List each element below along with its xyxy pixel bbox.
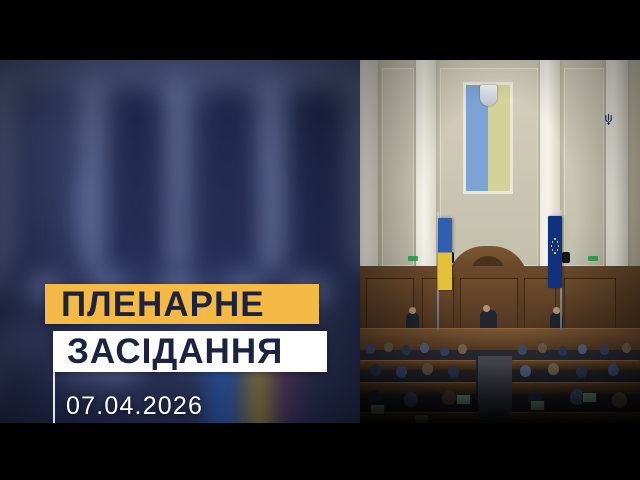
wall-panel — [382, 68, 414, 266]
hall-archway — [198, 90, 254, 265]
hall-column — [260, 78, 286, 268]
deputy-head — [622, 343, 631, 353]
loudspeaker-icon — [562, 252, 570, 263]
wall-panel — [564, 68, 604, 266]
ukraine-coat-of-arms-shield — [480, 85, 497, 106]
deputy-head — [558, 346, 567, 356]
title-band-primary: ПЛЕНАРНЕ — [45, 284, 319, 324]
chairperson — [480, 310, 497, 330]
deputy-head — [600, 345, 609, 355]
hall-archway — [110, 90, 162, 265]
broadcast-frame: ПЛЕНАРНЕ ЗАСІДАННЯ 07.04.2026 — [0, 0, 640, 480]
letterbox-bar-top — [0, 0, 640, 60]
exit-sign-icon — [588, 256, 598, 261]
right-chamber-image — [360, 60, 640, 423]
hall-column — [0, 78, 14, 268]
bottom-falloff — [360, 363, 640, 423]
european-union-flag — [548, 216, 562, 288]
title-line-1: ПЛЕНАРНЕ — [45, 287, 265, 322]
deputy-head — [578, 344, 587, 354]
hall-column — [166, 78, 190, 268]
deputy-head — [458, 344, 467, 354]
deputy-head — [384, 342, 393, 352]
hall-column — [352, 78, 360, 268]
presidium-panel — [564, 278, 616, 332]
deputy-head — [402, 345, 411, 355]
deputy-head — [518, 345, 527, 355]
broadcast-date: 07.04.2026 — [66, 392, 203, 421]
presidium-person — [406, 312, 419, 329]
deputy-head — [366, 344, 375, 354]
title-line-2: ЗАСІДАННЯ — [53, 334, 283, 369]
deputy-head — [538, 343, 547, 353]
video-frame: ПЛЕНАРНЕ ЗАСІДАННЯ 07.04.2026 — [0, 60, 640, 423]
letterbox-bar-bottom — [0, 423, 640, 480]
ukraine-flag — [438, 218, 452, 290]
exit-sign-icon — [408, 256, 418, 261]
deputy-head — [420, 343, 429, 353]
wall-pilaster — [606, 60, 628, 275]
wall-pilaster — [416, 60, 436, 275]
wall-pilaster — [360, 60, 378, 275]
deputy-head — [440, 346, 449, 356]
tryzub-icon — [604, 113, 613, 126]
hall-standing-figure — [76, 170, 104, 244]
hall-archway — [290, 90, 340, 265]
title-band-secondary: ЗАСІДАННЯ — [53, 331, 327, 372]
